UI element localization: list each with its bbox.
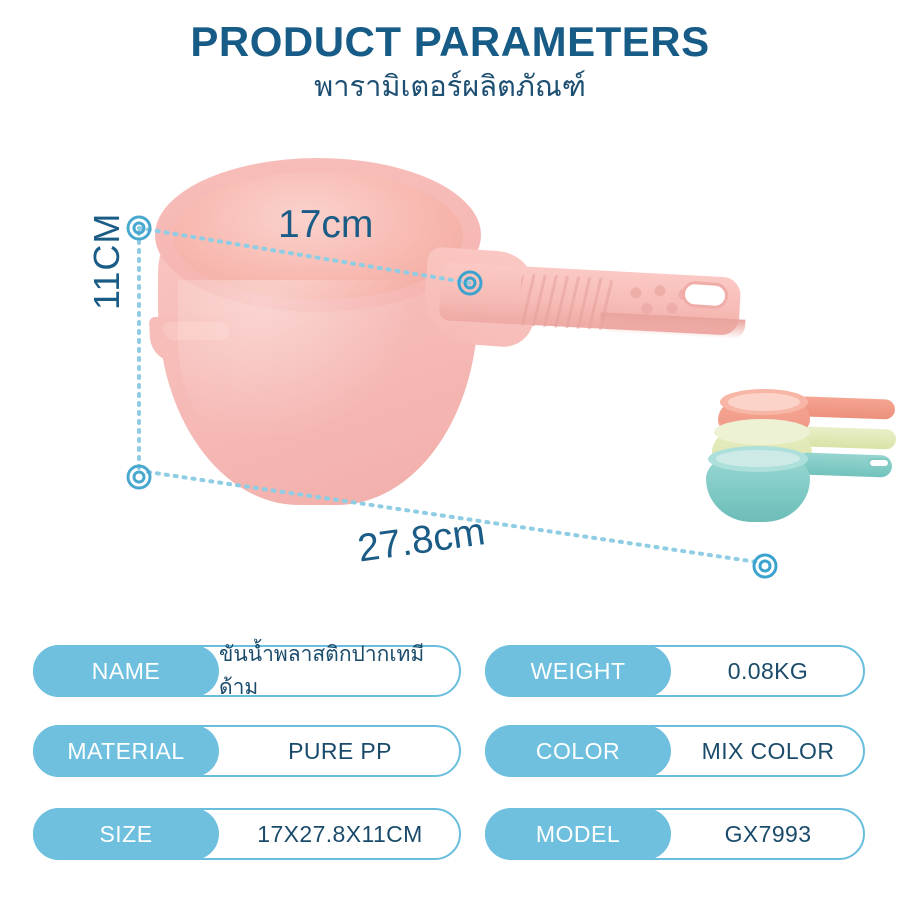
spec-key-label: MATERIAL: [67, 738, 184, 765]
spec-key-pill: COLOR: [485, 725, 671, 777]
spec-key-label: WEIGHT: [531, 658, 626, 685]
spec-key-pill: WEIGHT: [485, 645, 671, 697]
spec-value-text: ขันน้ำพลาสติกปากเทมีด้าม: [219, 645, 461, 697]
variant-green-rim: [714, 419, 810, 445]
spec-value-text: PURE PP: [219, 725, 461, 777]
spec-key-pill: MATERIAL: [33, 725, 219, 777]
spec-value-text: GX7993: [671, 808, 865, 860]
color-variants-illustration: [700, 392, 895, 527]
spec-key-pill: MODEL: [485, 808, 671, 860]
spec-key-label: SIZE: [99, 821, 152, 848]
variant-pink-interior: [728, 393, 800, 411]
dipper-handle-grip-ribs: [519, 274, 614, 331]
spec-key-label: COLOR: [536, 738, 620, 765]
spec-row-material: MATERIAL PURE PP: [33, 725, 461, 777]
spec-value-text: MIX COLOR: [671, 725, 865, 777]
spec-value-text: 17X27.8X11CM: [219, 808, 461, 860]
dipper-bowl-interior: [173, 172, 463, 300]
header: PRODUCT PARAMETERS พารามิเตอร์ผลิตภัณฑ์: [0, 20, 900, 103]
variant-teal-interior: [716, 450, 800, 467]
page-subtitle-thai: พารามิเตอร์ผลิตภัณฑ์: [0, 70, 900, 103]
spec-row-name: NAME ขันน้ำพลาสติกปากเทมีด้าม: [33, 645, 461, 697]
product-parameters-infographic: PRODUCT PARAMETERS พารามิเตอร์ผลิตภัณฑ์: [0, 0, 900, 900]
spec-row-model: MODEL GX7993: [485, 808, 865, 860]
specifications-grid: NAME ขันน้ำพลาสติกปากเทมีด้าม MATERIAL P…: [0, 636, 900, 876]
spec-key-label: MODEL: [536, 821, 620, 848]
spec-value-text: 0.08KG: [671, 645, 865, 697]
dipper-spout-lip: [163, 322, 229, 340]
spec-row-color: COLOR MIX COLOR: [485, 725, 865, 777]
page-title: PRODUCT PARAMETERS: [0, 20, 900, 64]
spec-key-label: NAME: [92, 658, 160, 685]
variant-pink-handle: [800, 396, 896, 419]
variant-teal-hanging-hole: [868, 458, 890, 468]
dipper-hanging-hole: [681, 280, 729, 309]
spec-key-pill: NAME: [33, 645, 219, 697]
spec-row-size: SIZE 17X27.8X11CM: [33, 808, 461, 860]
variant-green-handle: [804, 426, 897, 449]
spec-row-weight: WEIGHT 0.08KG: [485, 645, 865, 697]
spec-key-pill: SIZE: [33, 808, 219, 860]
main-water-dipper-illustration: [0, 130, 900, 620]
product-hero-image: [0, 130, 900, 620]
